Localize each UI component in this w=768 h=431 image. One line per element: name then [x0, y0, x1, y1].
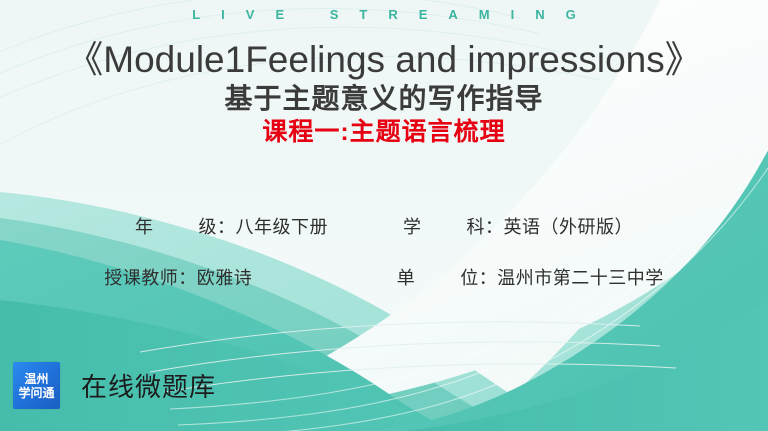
- logo-line-2: 学问通: [18, 387, 54, 399]
- wenzhou-xuewentong-logo-icon[interactable]: 温州 学问通: [13, 362, 60, 409]
- page-title: 《Module1Feelings and impressions》: [0, 38, 768, 82]
- grade-label: 年: [135, 217, 154, 237]
- slide-canvas: LIVE STREAMING 《Module1Feelings and impr…: [0, 0, 768, 431]
- teacher-label: 授课教师：欧雅诗: [104, 268, 252, 288]
- footer-brand[interactable]: 温州 学问通 在线微题库: [13, 362, 216, 409]
- school-value: 位：温州市第二十三中学: [460, 268, 664, 288]
- subject-value: 科：英语（外研版）: [467, 217, 634, 237]
- grade-value: 级：八年级下册: [198, 217, 328, 237]
- logo-line-1: 温州: [24, 373, 48, 385]
- info-row-grade-subject: 年 级：八年级下册 学 科：英语（外研版）: [0, 202, 768, 253]
- course-label: 课程一:主题语言梳理: [0, 116, 768, 148]
- live-streaming-eyebrow: LIVE STREAMING: [0, 7, 768, 22]
- school-label: 单: [397, 268, 416, 288]
- brand-name-text: 在线微题库: [81, 367, 216, 404]
- page-subtitle: 基于主题意义的写作指导: [0, 82, 768, 116]
- subject-label: 学: [403, 217, 422, 237]
- title-block: 《Module1Feelings and impressions》 基于主题意义…: [0, 38, 768, 148]
- course-info-block: 年 级：八年级下册 学 科：英语（外研版） 授课教师：欧雅诗 单 位：温州市第二…: [0, 202, 768, 304]
- info-row-teacher-school: 授课教师：欧雅诗 单 位：温州市第二十三中学: [0, 253, 768, 304]
